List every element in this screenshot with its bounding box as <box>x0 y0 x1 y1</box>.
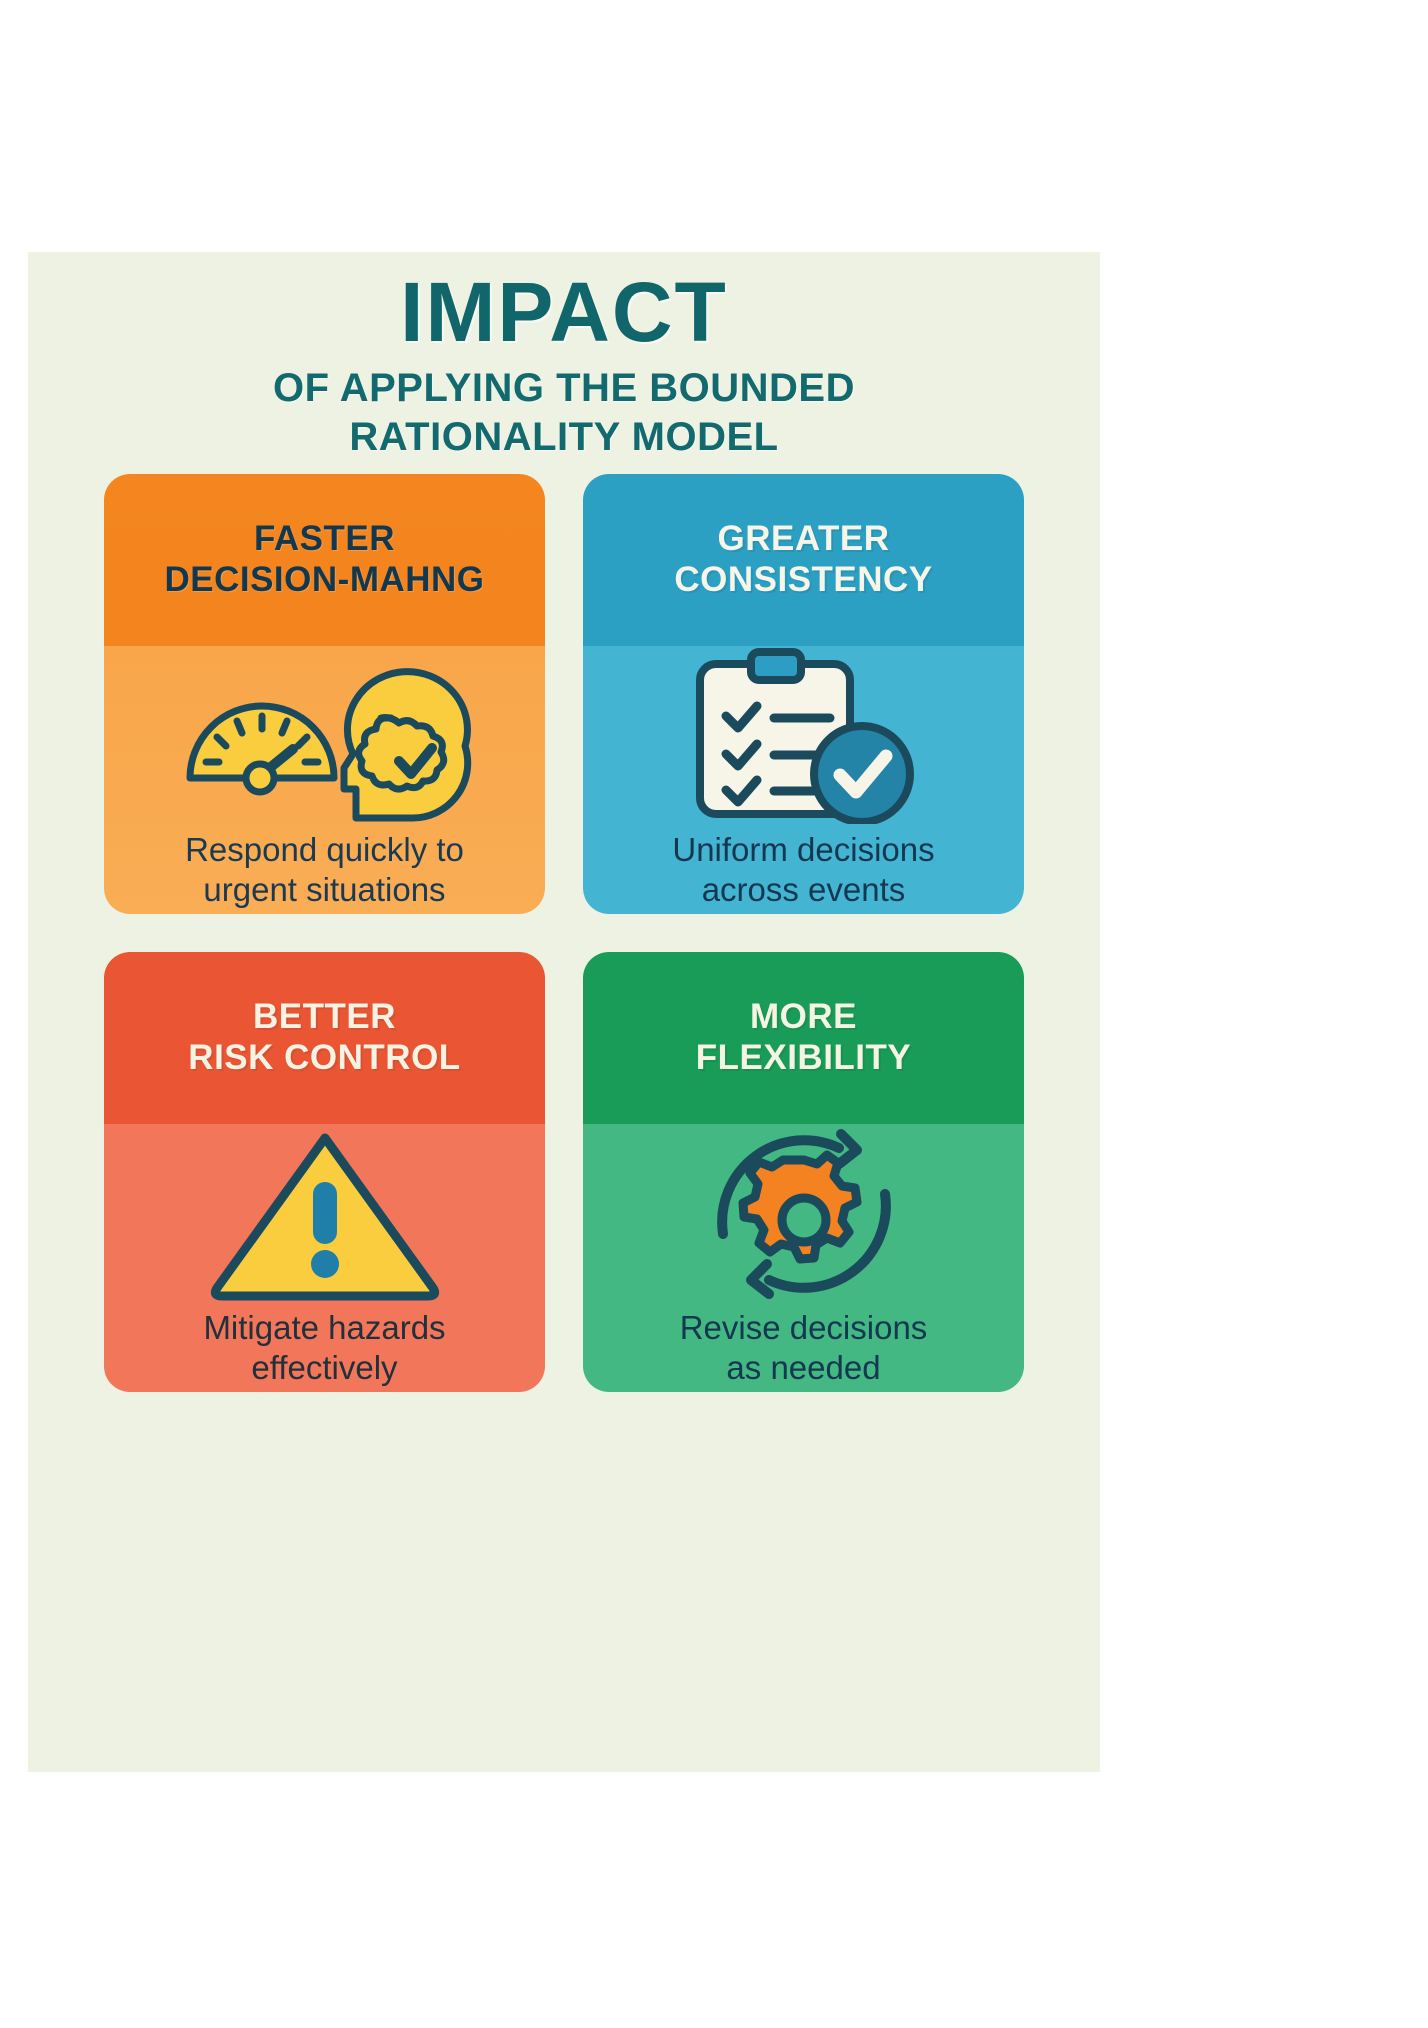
card-more-flexibility[interactable]: MORE FLEXIBILITY Revise decisions <box>583 952 1024 1392</box>
card-caption-text: Revise decisions as needed <box>662 1308 946 1389</box>
clipboard-checkmark-icon <box>654 648 954 824</box>
title-block: IMPACT OF APPLYING THE BOUNDED RATIONALI… <box>28 252 1100 462</box>
impact-card-grid: FASTER DECISION-MAHNG <box>104 474 1024 1392</box>
card-header: BETTER RISK CONTROL <box>104 952 545 1124</box>
card-better-risk-control[interactable]: BETTER RISK CONTROL Mitigate hazards eff… <box>104 952 545 1392</box>
card-caption-text: Respond quickly to urgent situations <box>167 830 482 911</box>
card-header: FASTER DECISION-MAHNG <box>104 474 545 646</box>
card-caption-text: Mitigate hazards effectively <box>185 1308 463 1389</box>
card-header: GREATER CONSISTENCY <box>583 474 1024 646</box>
card-caption-text: Uniform decisions across events <box>654 830 952 911</box>
infographic-poster: IMPACT OF APPLYING THE BOUNDED RATIONALI… <box>28 252 1100 1772</box>
card-body: Mitigate hazards effectively <box>104 1124 545 1392</box>
card-body: Revise decisions as needed <box>583 1124 1024 1392</box>
card-body: Uniform decisions across events <box>583 646 1024 914</box>
card-heading-text: GREATER CONSISTENCY <box>674 519 932 600</box>
page-subtitle-line1: OF APPLYING THE BOUNDED <box>28 364 1100 413</box>
card-heading-text: BETTER RISK CONTROL <box>188 997 460 1078</box>
card-heading-text: FASTER DECISION-MAHNG <box>164 519 484 600</box>
card-heading-text: MORE FLEXIBILITY <box>696 997 912 1078</box>
card-header: MORE FLEXIBILITY <box>583 952 1024 1124</box>
speedometer-brain-icon <box>160 648 490 824</box>
gear-refresh-icon <box>689 1126 919 1302</box>
page-subtitle: OF APPLYING THE BOUNDED RATIONALITY MODE… <box>28 364 1100 462</box>
card-greater-consistency[interactable]: GREATER CONSISTENCY <box>583 474 1024 914</box>
card-body: Respond quickly to urgent situations <box>104 646 545 914</box>
warning-triangle-icon <box>205 1126 445 1302</box>
card-faster-decision-making[interactable]: FASTER DECISION-MAHNG <box>104 474 545 914</box>
page-subtitle-line2: RATIONALITY MODEL <box>28 413 1100 462</box>
page-title: IMPACT <box>28 270 1100 354</box>
